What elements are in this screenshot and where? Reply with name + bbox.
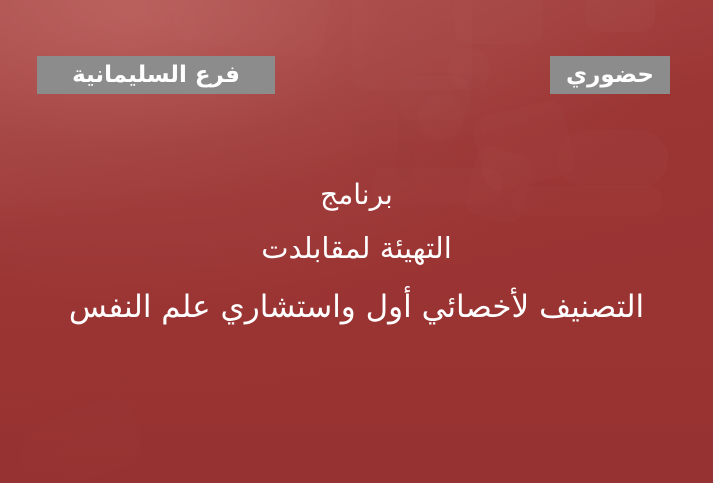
attendance-mode-tag: حضوري: [550, 56, 670, 94]
headline-block: برنامج التهيئة لمقابلدت التصنيف لأخصائي …: [0, 172, 713, 336]
branch-tag: فرع السليمانية: [37, 56, 275, 94]
headline-line-1: برنامج: [0, 172, 713, 218]
headline-line-3: التصنيف لأخصائي أول واستشاري علم النفس: [0, 278, 713, 336]
headline-line-2: التهيئة لمقابلدت: [0, 218, 713, 278]
tag-row: فرع السليمانية حضوري: [0, 56, 713, 94]
slide-canvas: فرع السليمانية حضوري برنامج التهيئة لمقا…: [0, 0, 713, 483]
